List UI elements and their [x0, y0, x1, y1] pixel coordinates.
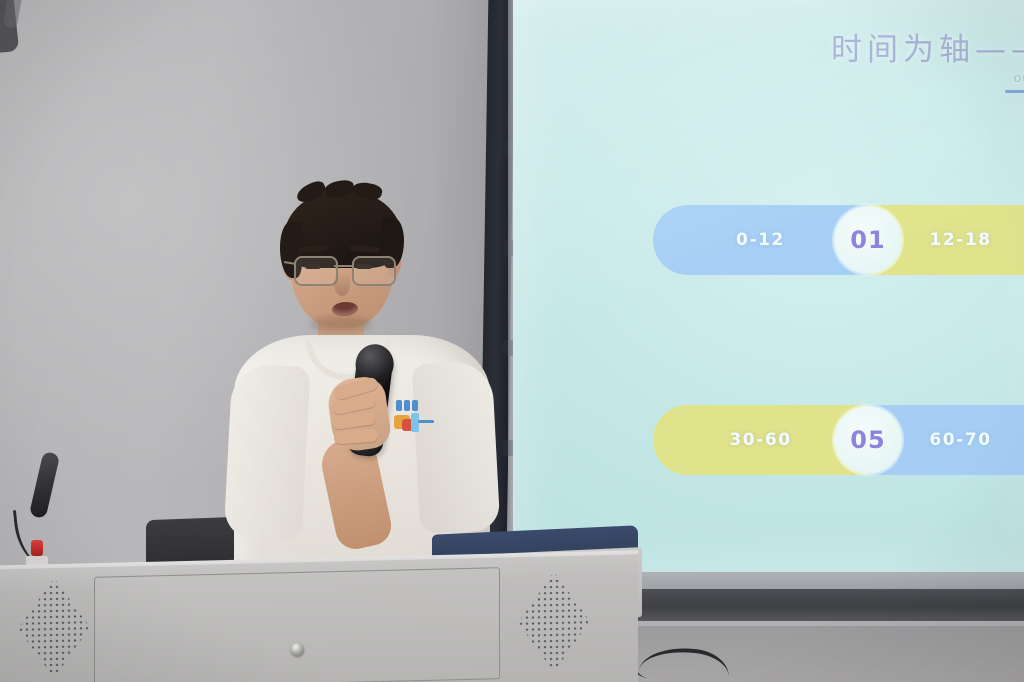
slide-title: 时间为轴——: [831, 24, 1024, 69]
timeline-segment-label: 60-70: [929, 430, 991, 450]
tshirt-logo: [394, 400, 438, 444]
lectern-front-panel: [94, 567, 500, 682]
presenter-sleeve-right: [412, 360, 501, 534]
timeline-badge: 05: [834, 406, 902, 474]
timeline-row-2: 30-60 60-70 05: [653, 405, 1024, 475]
timeline-segment-label: 30-60: [729, 430, 791, 450]
presenter: [232, 190, 502, 590]
presenter-chin-shadow: [310, 316, 372, 332]
slide-content: 时间为轴—— our li 0-12 12-18 01 3: [513, 0, 1024, 572]
lecture-hall-photo: 时间为轴—— our li 0-12 12-18 01 3: [0, 0, 1024, 682]
subtitle-underline: [1005, 90, 1024, 93]
presenter-sleeve-left: [223, 363, 310, 542]
glasses-lens-left: [294, 256, 338, 286]
lectern-lock[interactable]: [291, 643, 304, 656]
presenter-nose: [334, 272, 350, 296]
timeline-segment-label: 12-18: [929, 230, 991, 250]
timeline-badge: 01: [834, 206, 902, 274]
glasses-bridge: [334, 265, 352, 267]
glasses-lens-right: [352, 256, 396, 286]
timeline-badge-number: 05: [850, 426, 885, 454]
timeline-row-1: 0-12 12-18 01: [653, 205, 1024, 275]
slide-subtitle: our li: [1014, 70, 1024, 85]
microphone-indicator-light: [31, 540, 43, 556]
timeline-segment-label: 0-12: [736, 230, 785, 250]
timeline-badge-number: 01: [850, 226, 885, 254]
